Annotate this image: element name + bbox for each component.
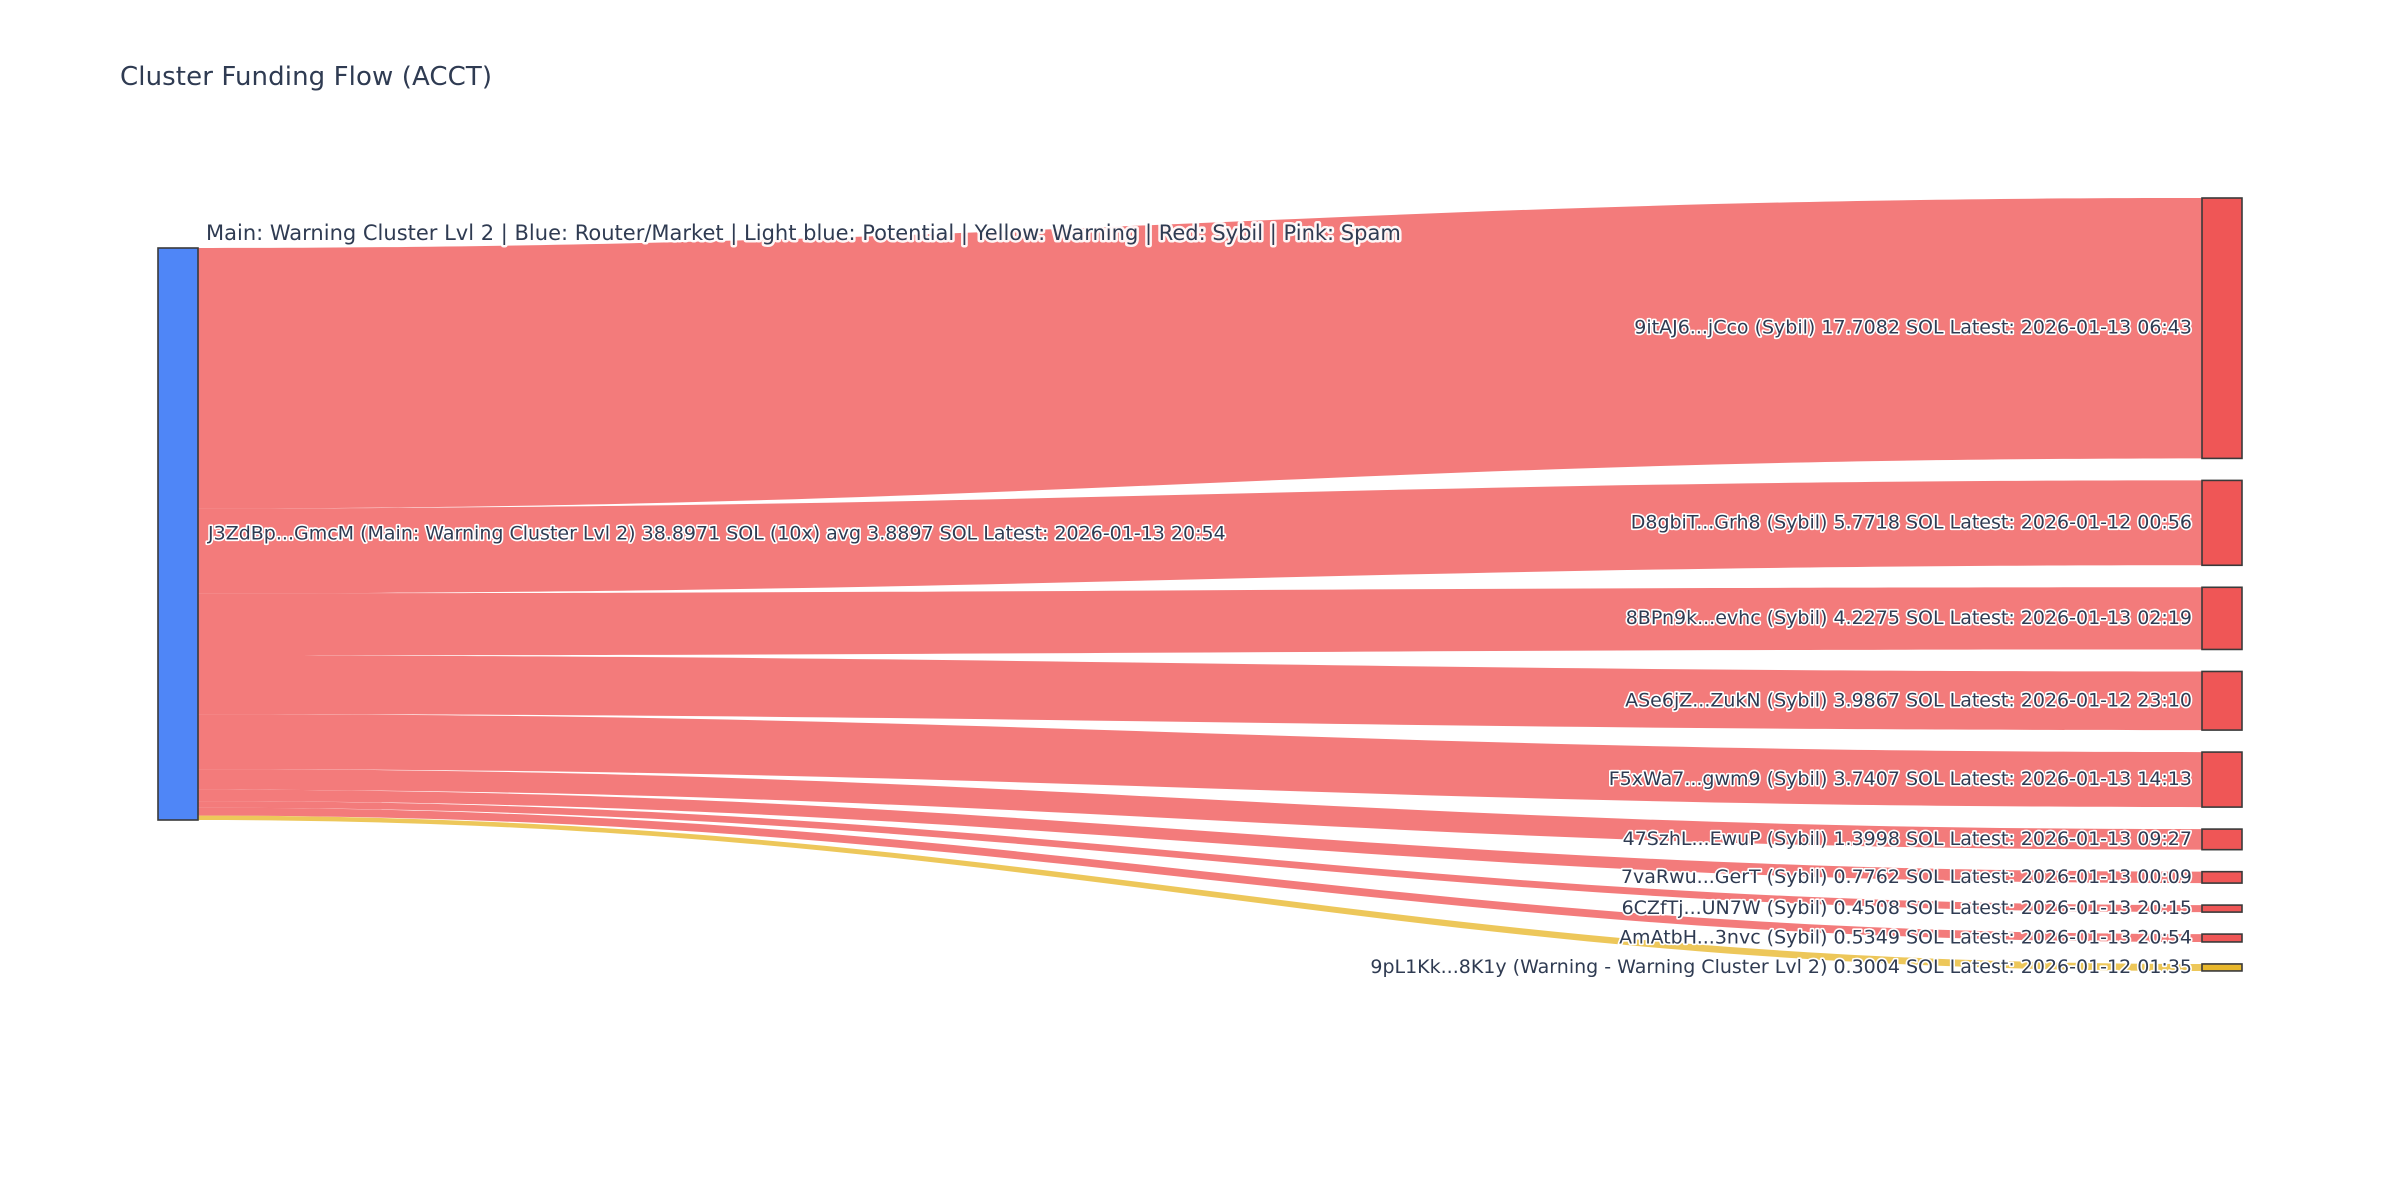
sankey-node-label-target: 9pL1Kk...8K1y (Warning - Warning Cluster… — [1370, 956, 2192, 978]
sankey-node-target[interactable] — [2202, 872, 2242, 883]
sankey-node-label-target: 6CZfTj...UN7W (Sybil) 0.4508 SOL Latest:… — [1622, 897, 2192, 919]
sankey-node-label-target: 8BPn9k...evhc (Sybil) 4.2275 SOL Latest:… — [1626, 607, 2192, 629]
sankey-legend: Main: Warning Cluster Lvl 2 | Blue: Rout… — [206, 221, 1401, 246]
sankey-node-label-target: 47SzhL...EwuP (Sybil) 1.3998 SOL Latest:… — [1623, 828, 2192, 850]
sankey-node-label-target: 9itAJ6...jCco (Sybil) 17.7082 SOL Latest… — [1634, 317, 2192, 339]
sankey-node-target[interactable] — [2202, 480, 2242, 565]
sankey-node-label-target: D8gbiT...Grh8 (Sybil) 5.7718 SOL Latest:… — [1631, 511, 2192, 533]
sankey-node-target[interactable] — [2202, 587, 2242, 649]
sankey-node-target[interactable] — [2202, 829, 2242, 850]
sankey-node-label-target: AmAtbH...3nvc (Sybil) 0.5349 SOL Latest:… — [1619, 927, 2192, 949]
sankey-node-label-target: F5xWa7...gwm9 (Sybil) 3.7407 SOL Latest:… — [1609, 768, 2192, 790]
sankey-node-target[interactable] — [2202, 671, 2242, 730]
sankey-node-target[interactable] — [2202, 964, 2242, 971]
sankey-node-target[interactable] — [2202, 934, 2242, 942]
sankey-diagram[interactable]: J3ZdBp...GmcM (Main: Warning Cluster Lvl… — [0, 0, 2400, 1200]
sankey-node-target[interactable] — [2202, 752, 2242, 807]
sankey-node-target[interactable] — [2202, 198, 2242, 458]
sankey-node-label-target: ASe6jZ...ZukN (Sybil) 3.9867 SOL Latest:… — [1625, 689, 2192, 711]
sankey-links — [198, 198, 2202, 971]
sankey-node-target[interactable] — [2202, 905, 2242, 912]
sankey-node-source[interactable] — [158, 248, 198, 820]
sankey-legend-text: Main: Warning Cluster Lvl 2 | Blue: Rout… — [206, 221, 1401, 246]
sankey-node-label-source: J3ZdBp...GmcM (Main: Warning Cluster Lvl… — [207, 523, 1226, 545]
sankey-node-label-target: 7vaRwu...GerT (Sybil) 0.7762 SOL Latest:… — [1621, 866, 2192, 888]
sankey-chart-root: Cluster Funding Flow (ACCT) J3ZdBp...Gmc… — [0, 0, 2400, 1200]
